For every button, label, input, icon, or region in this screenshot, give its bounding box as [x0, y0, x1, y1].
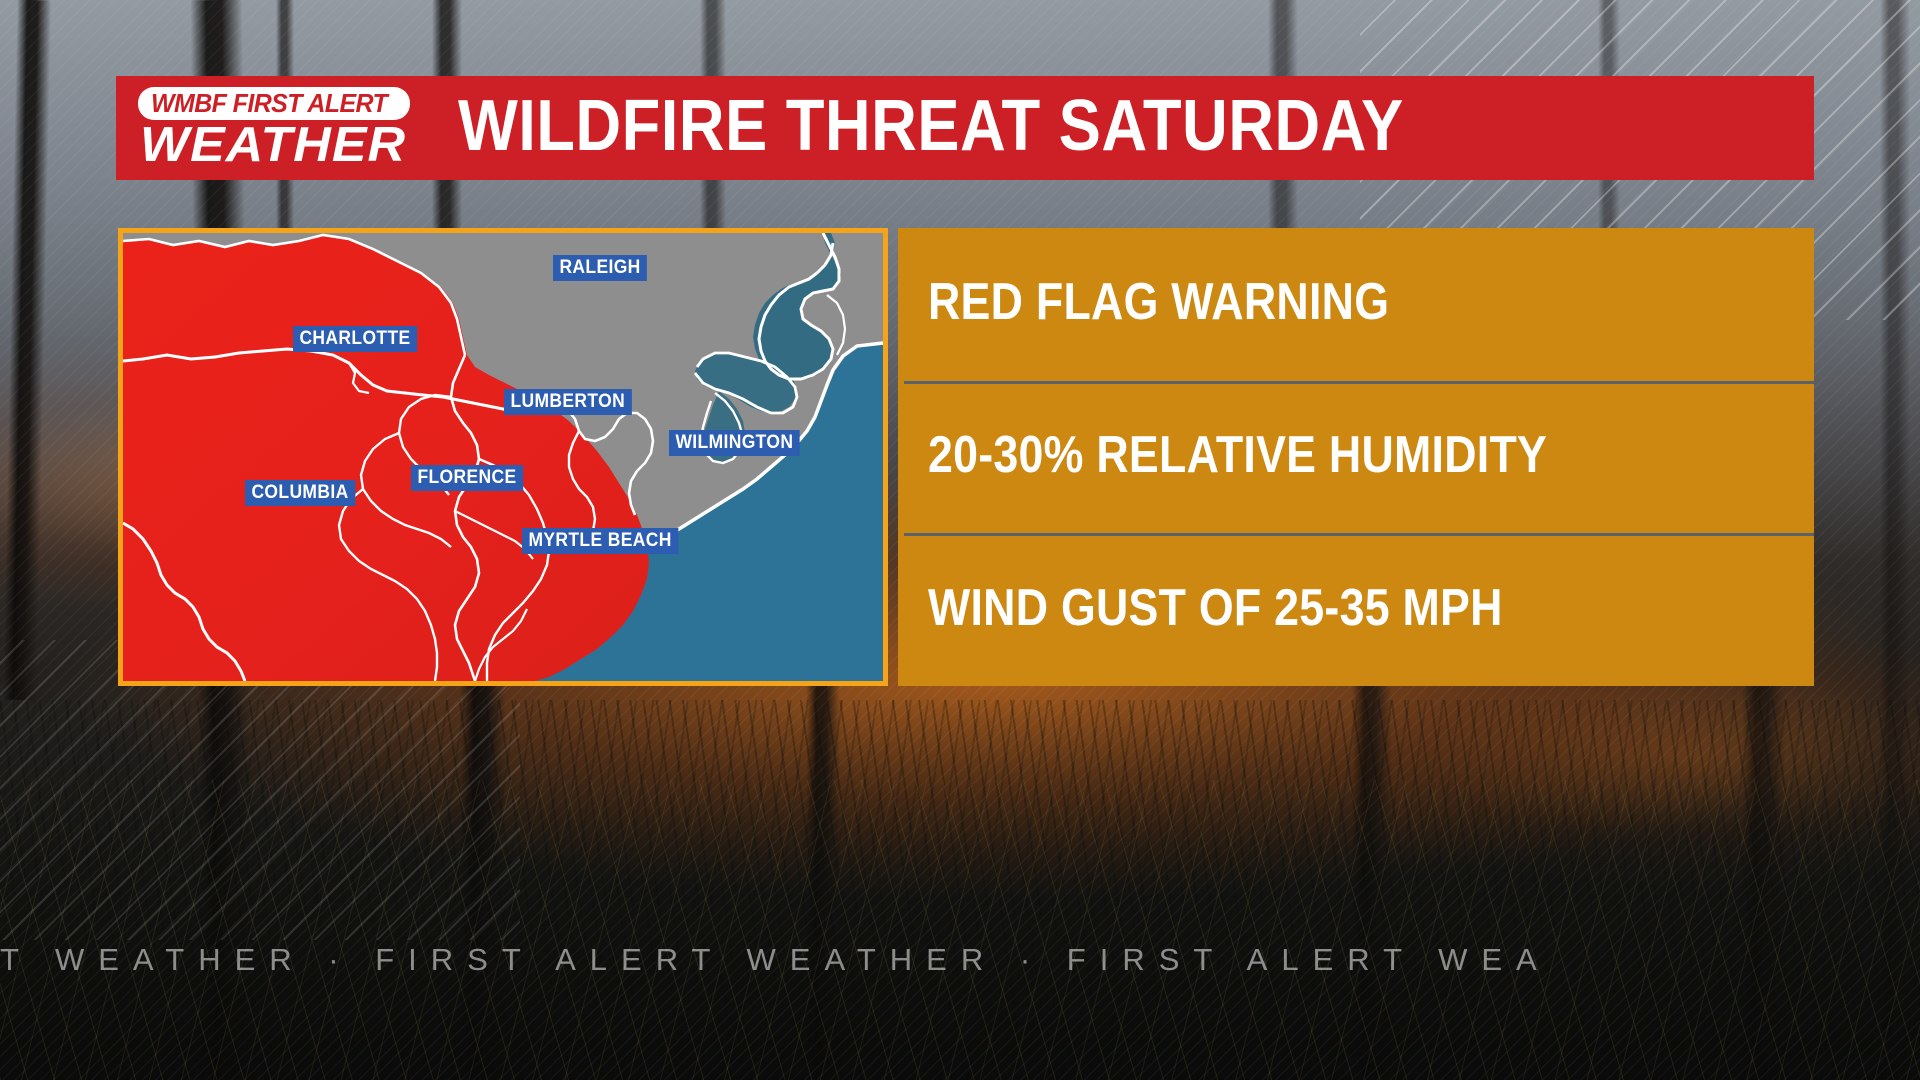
red-flag-warning-area: [123, 233, 883, 681]
map-city-label-wilmington: WILMINGTON: [669, 430, 800, 456]
broadcast-graphic-stage: T WEATHER · FIRST ALERT WEATHER · FIRST …: [0, 0, 1920, 1080]
map-city-label-raleigh: RALEIGH: [553, 255, 647, 281]
map-city-label-florence: FLORENCE: [411, 465, 523, 491]
header-banner: WMBF FIRST ALERT WEATHER WILDFIRE THREAT…: [116, 76, 1814, 180]
map-city-label-myrtle-beach: MYRTLE BEACH: [522, 528, 678, 554]
map-canvas: RALEIGH CHARLOTTE LUMBERTON WILMINGTON F…: [123, 233, 883, 681]
threat-detail-row: WIND GUST OF 25-35 MPH: [898, 533, 1814, 686]
threat-detail-text: WIND GUST OF 25-35 MPH: [928, 582, 1503, 638]
threat-detail-text: RED FLAG WARNING: [928, 276, 1389, 332]
regional-threat-map: RALEIGH CHARLOTTE LUMBERTON WILMINGTON F…: [118, 228, 888, 686]
page-title: WILDFIRE THREAT SATURDAY: [458, 90, 1404, 166]
logo-top-text: WMBF FIRST ALERT: [151, 90, 387, 116]
logo-bottom-text: WEATHER: [140, 121, 406, 169]
map-city-label-columbia: COLUMBIA: [245, 480, 355, 506]
wmbf-first-alert-weather-logo: WMBF FIRST ALERT WEATHER: [138, 87, 444, 169]
logo-pill: WMBF FIRST ALERT: [138, 87, 410, 120]
threat-detail-text: 20-30% RELATIVE HUMIDITY: [928, 429, 1547, 485]
map-city-label-lumberton: LUMBERTON: [504, 389, 632, 415]
threat-detail-row: RED FLAG WARNING: [898, 228, 1814, 381]
threat-detail-row: 20-30% RELATIVE HUMIDITY: [898, 381, 1814, 534]
map-city-label-charlotte: CHARLOTTE: [293, 326, 417, 352]
threat-details-panel: RED FLAG WARNING 20-30% RELATIVE HUMIDIT…: [898, 228, 1814, 686]
